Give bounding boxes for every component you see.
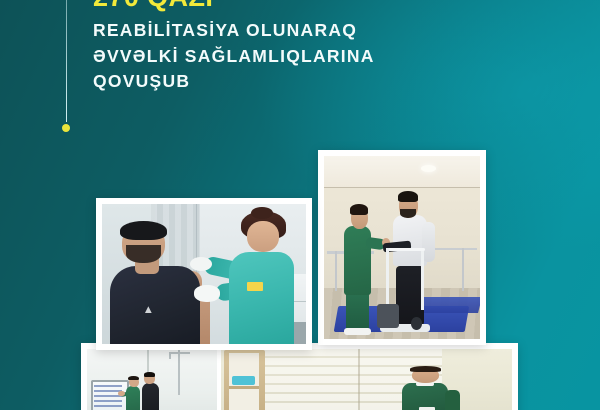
- scene-consultation: [87, 349, 217, 410]
- patient-hair: [144, 372, 156, 377]
- patient-body-dark-shirt: [142, 383, 159, 410]
- patient-beard: [126, 245, 161, 263]
- accent-line: [66, 0, 67, 122]
- headline-block: 270 QAZİ REABİLİTASİYA OLUNARAQ ƏVVƏLKİ …: [93, 0, 563, 95]
- iv-pole: [178, 350, 180, 394]
- medic-arm: [445, 390, 460, 410]
- wall-seam: [358, 349, 360, 410]
- ceiling: [324, 156, 480, 187]
- patient-body-dark-tshirt: [110, 266, 200, 344]
- headline-line-3: QOVUŞUB: [93, 69, 563, 95]
- scene-examination-room: [102, 204, 306, 344]
- accent-dot: [62, 124, 70, 132]
- medic-body-green-scrubs: [402, 383, 449, 410]
- patient-arm: [422, 222, 434, 262]
- therapist-legs: [346, 291, 369, 331]
- nurse-gloved-hand-lower: [194, 285, 221, 302]
- nurse-id-badge: [247, 282, 263, 290]
- nurse-head: [247, 221, 280, 252]
- iv-pole-arm: [169, 352, 190, 354]
- screen-content-lines: [94, 385, 123, 410]
- medic-body-green-scrubs: [126, 386, 140, 410]
- photo-patient-examination: [102, 204, 306, 344]
- photo-consultation-screen: [87, 349, 217, 410]
- patient-hair: [398, 191, 418, 202]
- iv-pole-hook: [169, 352, 171, 359]
- blue-storage-box: [232, 376, 255, 385]
- scene-rehab-hall: [324, 156, 480, 339]
- headline-line-1: REABİLİTASİYA OLUNARAQ: [93, 18, 563, 44]
- nurse-body-teal-scrubs: [229, 252, 294, 344]
- photo-frame-bottom-row: [81, 343, 518, 410]
- shelf-board: [229, 386, 260, 389]
- medic-hand: [118, 391, 125, 395]
- kicker-text: 270 QAZİ: [93, 0, 563, 12]
- therapist-hair: [350, 204, 369, 215]
- therapist-body-green-scrubs: [344, 226, 371, 296]
- photo-frame-patient: [96, 198, 312, 350]
- gait-trainer-frame: [386, 248, 425, 251]
- gait-trainer-column-left: [386, 248, 389, 310]
- headline-line-2: ƏVVƏLKİ SAĞLAMLIQLARINA: [93, 44, 563, 70]
- ceiling-edge: [324, 187, 480, 188]
- scene-smiling-medic: [221, 349, 512, 410]
- parallel-bar-post-right: [462, 248, 464, 292]
- photo-bottom-row-image: [87, 349, 512, 410]
- photo-frame-rehab: [318, 150, 486, 345]
- poster-canvas: 270 QAZİ REABİLİTASİYA OLUNARAQ ƏVVƏLKİ …: [0, 0, 600, 410]
- parallel-bar-post-left: [335, 251, 337, 291]
- gait-trainer-column-right: [421, 251, 424, 310]
- photo-rehab-gait-training: [324, 156, 480, 339]
- photo-smiling-medic: [221, 349, 512, 410]
- therapist-shoes: [344, 328, 371, 335]
- medic-hair: [410, 366, 441, 372]
- patient-hair: [120, 221, 167, 241]
- gait-trainer-control-box: [377, 304, 399, 328]
- medic-hair: [128, 376, 139, 380]
